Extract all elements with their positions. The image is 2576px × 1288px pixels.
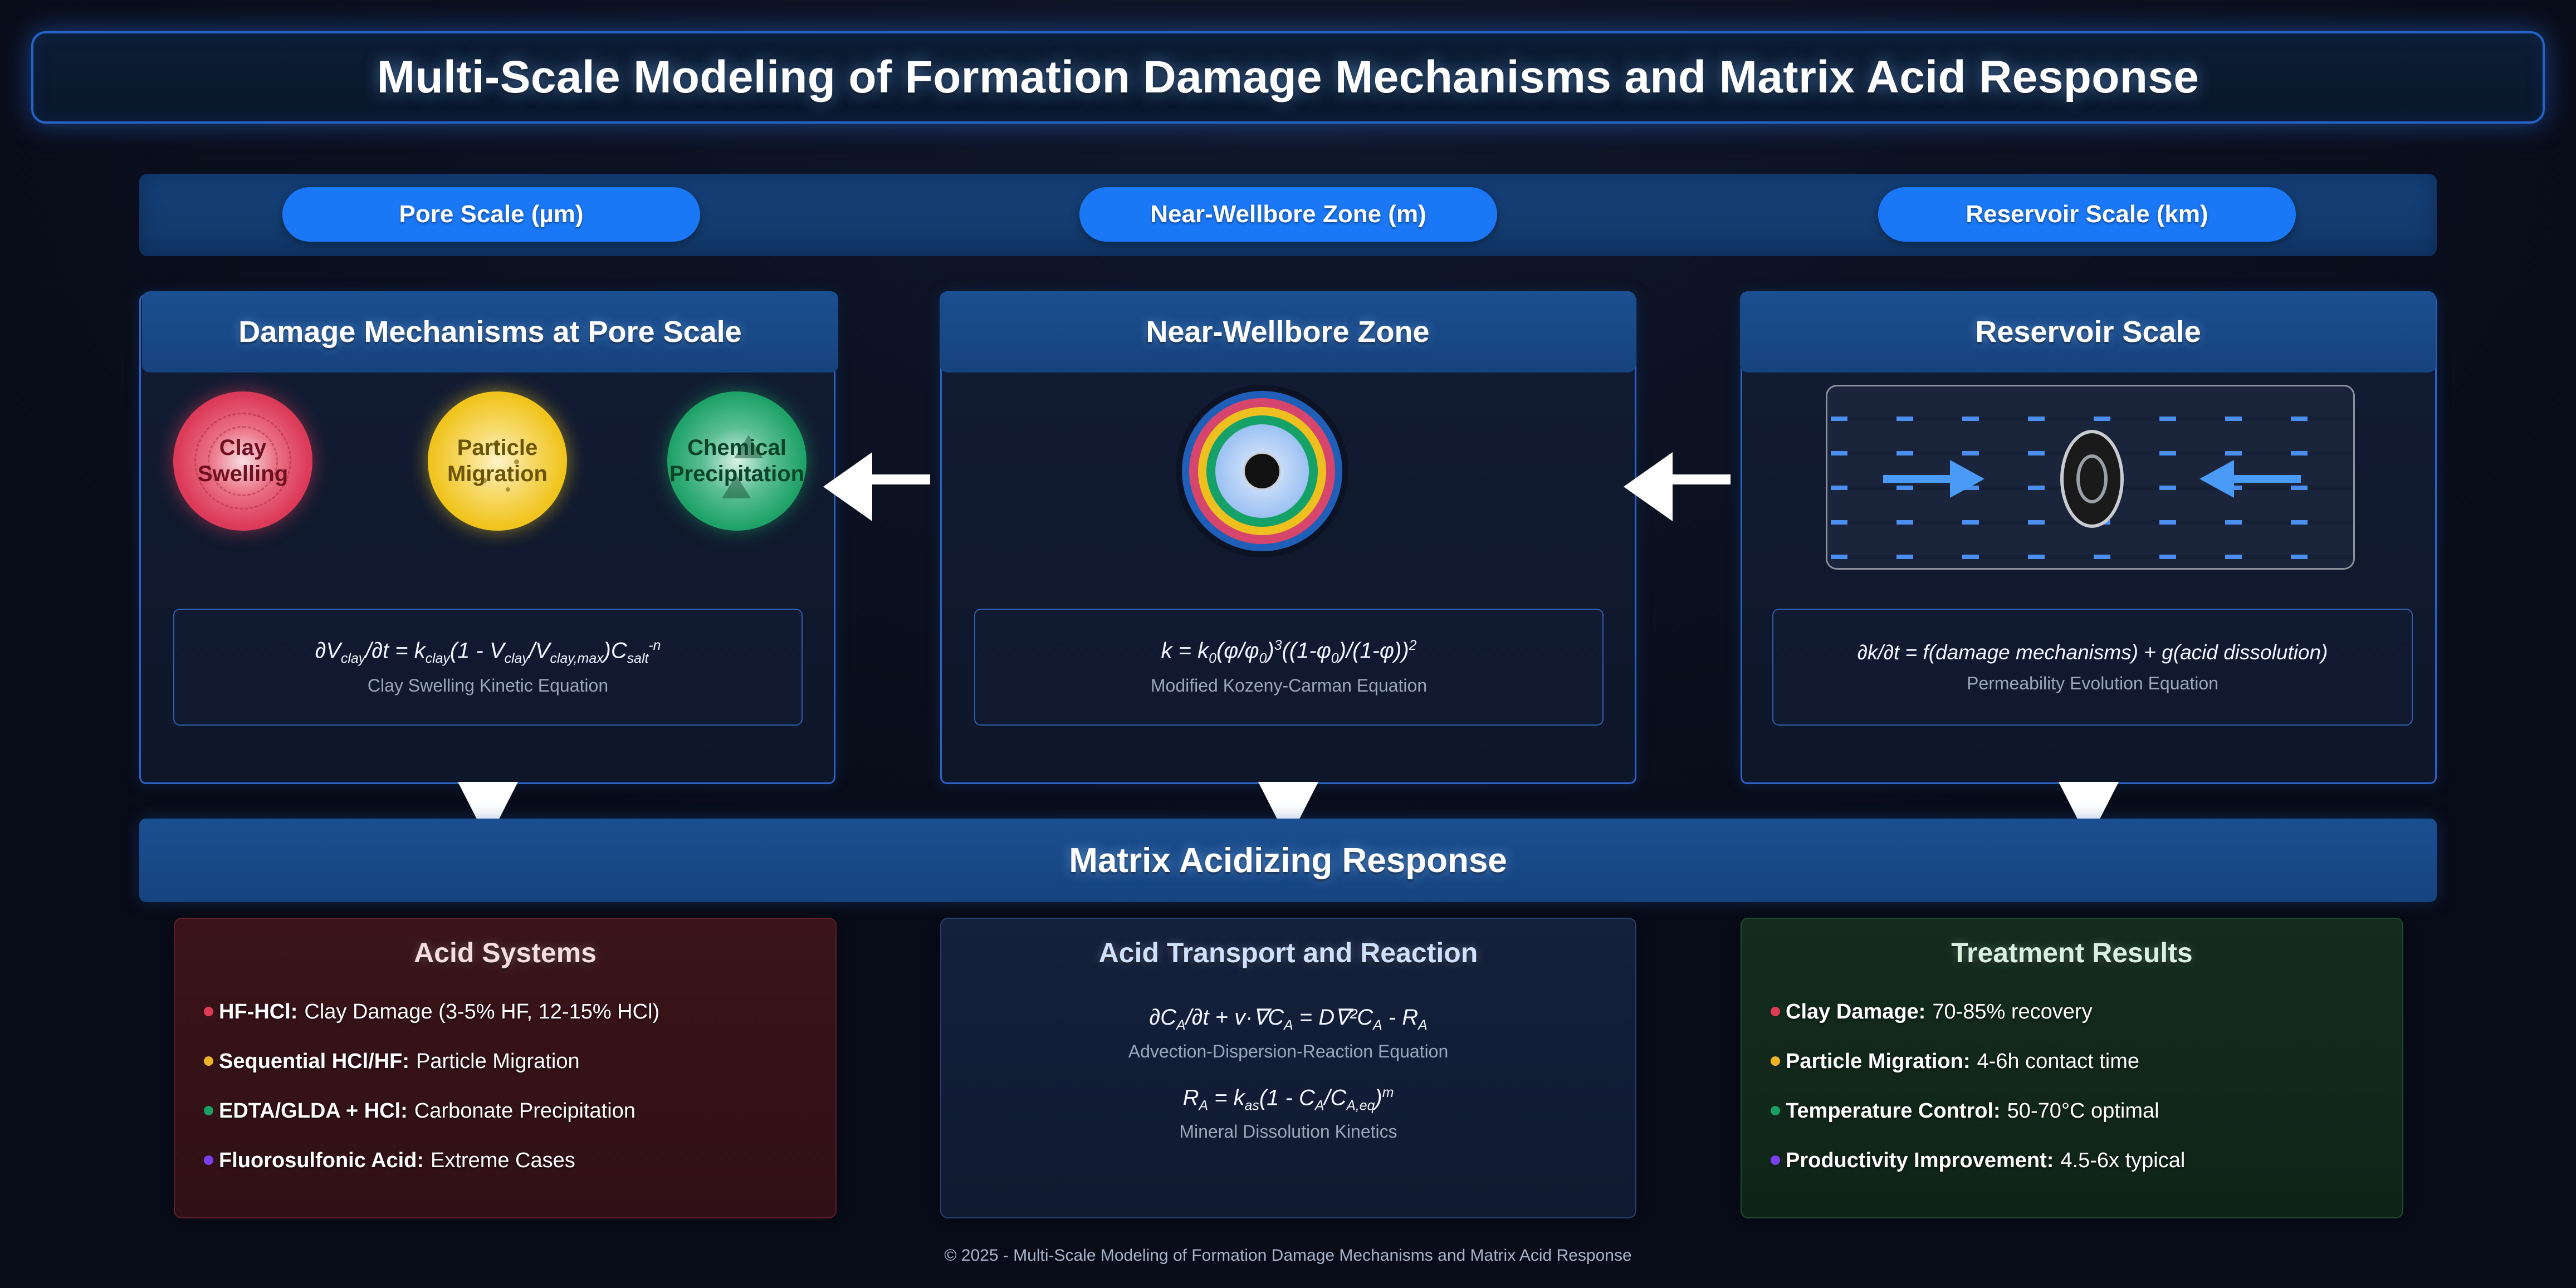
eq-part: /∂t = k: [365, 638, 426, 663]
wellbore-symbol-icon: [2060, 430, 2124, 528]
bullet-icon: [1771, 1155, 1780, 1165]
list-item[interactable]: Sequential HCl/HF: Particle Migration: [204, 1050, 819, 1074]
mechanism-clay-swelling-line2: Swelling: [198, 461, 288, 487]
eq-part: = k: [1208, 1085, 1245, 1110]
eq-part: = D∇²C: [1293, 1005, 1373, 1030]
kozeny-carman-equation: k = k0(φ/φ0)3((1-φ0)/(1-φ))2: [1161, 638, 1417, 667]
eq-part: /∂t + v·∇C: [1186, 1005, 1284, 1030]
list-item-value: 4.5-6x typical: [2060, 1149, 2185, 1173]
page-title: Multi-Scale Modeling of Formation Damage…: [377, 51, 2199, 104]
scale-badge-reservoir[interactable]: Reservoir Scale (km): [1878, 187, 2296, 242]
eq-part: )C: [604, 638, 627, 663]
bullet-icon: [204, 1155, 213, 1165]
list-item-value: 50-70°C optimal: [2007, 1099, 2159, 1123]
panel-acid-transport-heading: Acid Transport and Reaction: [941, 937, 1635, 969]
eq-sup: 2: [1409, 638, 1417, 653]
permeability-evolution-equation: ∂k/∂t = f(damage mechanisms) + g(acid di…: [1858, 641, 2328, 664]
eq-part: (1 - V: [450, 638, 505, 663]
mechanism-particle-migration[interactable]: Particle Migration: [428, 391, 567, 531]
list-item-value: 70-85% recovery: [1932, 1000, 2092, 1024]
list-item-label: HF-HCl:: [219, 1000, 297, 1024]
mechanism-clay-swelling[interactable]: Clay Swelling: [173, 391, 312, 531]
kozeny-carman-equation-caption: Modified Kozeny-Carman Equation: [1151, 675, 1427, 696]
arrow-reservoir-to-wellbore-icon: [1624, 472, 1731, 487]
matrix-acidizing-response-heading: Matrix Acidizing Response: [1069, 841, 1507, 880]
scale-badge-wellbore[interactable]: Near-Wellbore Zone (m): [1079, 187, 1497, 242]
list-item-value: Clay Damage (3-5% HF, 12-15% HCl): [304, 1000, 659, 1024]
panel-pore-scale-heading: Damage Mechanisms at Pore Scale: [142, 291, 838, 373]
eq-sub: A,eq: [1346, 1098, 1375, 1113]
treatment-results-list: Clay Damage: 70-85% recovery Particle Mi…: [1771, 1000, 2386, 1198]
clay-swelling-equation-caption: Clay Swelling Kinetic Equation: [368, 675, 608, 696]
mineral-dissolution-kinetics-equation: RA = kas(1 - CA/CA,eq)m: [1179, 1085, 1397, 1114]
reservoir-field-box: [1826, 385, 2355, 570]
flow-arrow-stem: [2228, 475, 2301, 483]
eq-sup: -n: [648, 638, 661, 653]
eq-part: ((1-φ: [1282, 638, 1331, 663]
arrow-wellbore-to-pore-icon: [823, 472, 930, 487]
eq-part: k = k: [1161, 638, 1209, 663]
mechanism-chemical-precipitation[interactable]: Chemical Precipitation: [667, 391, 806, 531]
eq-part: )/(1-φ)): [1339, 638, 1409, 663]
flow-arrow-right-icon: [1883, 471, 1995, 487]
eq-sub: clay: [426, 651, 450, 666]
eq-part: /C: [1324, 1085, 1346, 1110]
list-item-label: Clay Damage:: [1786, 1000, 1925, 1024]
wellbore-bore-hole-icon: [1243, 452, 1281, 490]
eq-sub: clay: [505, 651, 529, 666]
mechanism-chemical-precipitation-line1: Chemical: [687, 435, 786, 461]
list-item-label: Temperature Control:: [1786, 1099, 2001, 1123]
equation-block: RA = kas(1 - CA/CA,eq)m Mineral Dissolut…: [1179, 1085, 1397, 1142]
panel-pore-scale: Damage Mechanisms at Pore Scale Clay Swe…: [139, 294, 835, 784]
panel-acid-systems: Acid Systems HF-HCl: Clay Damage (3-5% H…: [174, 918, 837, 1218]
eq-sup: 3: [1274, 638, 1282, 653]
eq-part: R: [1183, 1085, 1199, 1110]
panel-near-wellbore: Near-Wellbore Zone k = k0(φ/φ0)3((1-φ0)/…: [940, 294, 1636, 784]
equation-block: ∂CA/∂t + v·∇CA = D∇²CA - RA Advection-Di…: [1128, 1005, 1449, 1062]
list-item[interactable]: EDTA/GLDA + HCl: Carbonate Precipitation: [204, 1099, 819, 1123]
bullet-icon: [1771, 1007, 1780, 1016]
bullet-icon: [204, 1056, 213, 1066]
list-item[interactable]: Clay Damage: 70-85% recovery: [1771, 1000, 2386, 1024]
page-title-bar: Multi-Scale Modeling of Formation Damage…: [31, 31, 2545, 124]
bullet-icon: [1771, 1106, 1780, 1115]
list-item-value: Extreme Cases: [431, 1149, 575, 1173]
eq-part: ∂V: [315, 638, 341, 663]
panel-reservoir-scale-heading: Reservoir Scale: [1740, 291, 2436, 373]
list-item-label: Productivity Improvement:: [1786, 1149, 2054, 1173]
diagram-root: Multi-Scale Modeling of Formation Damage…: [0, 0, 2576, 1288]
list-item[interactable]: Temperature Control: 50-70°C optimal: [1771, 1099, 2386, 1123]
eq-sub: clay: [341, 651, 365, 666]
eq-part: ∂C: [1149, 1005, 1176, 1030]
mineral-dissolution-kinetics-caption: Mineral Dissolution Kinetics: [1179, 1122, 1397, 1142]
arrow-stem: [1669, 474, 1731, 484]
list-item-label: Particle Migration:: [1786, 1050, 1971, 1074]
panel-treatment-results-heading: Treatment Results: [1742, 937, 2402, 969]
mechanism-particle-migration-line2: Migration: [447, 461, 548, 487]
wellbore-equation-box: k = k0(φ/φ0)3((1-φ0)/(1-φ))2 Modified Ko…: [974, 609, 1604, 726]
flow-arrow-head: [1950, 460, 1984, 498]
eq-sub: A: [1199, 1098, 1208, 1113]
mechanism-circle-row: Clay Swelling Particle Migration Chemica…: [163, 386, 815, 553]
acid-transport-equations: ∂CA/∂t + v·∇CA = D∇²CA - RA Advection-Di…: [964, 1005, 1613, 1165]
scale-strip: Pore Scale (µm) Near-Wellbore Zone (m) R…: [139, 174, 2437, 256]
list-item-value: 4-6h contact time: [1977, 1050, 2139, 1074]
eq-part: - R: [1382, 1005, 1418, 1030]
panel-near-wellbore-heading: Near-Wellbore Zone: [940, 291, 1636, 373]
eq-sub: A: [1315, 1098, 1324, 1113]
pore-equation-box: ∂Vclay/∂t = kclay(1 - Vclay/Vclay,max)Cs…: [173, 609, 803, 726]
list-item-value: Carbonate Precipitation: [414, 1099, 636, 1123]
eq-part: /V: [529, 638, 550, 663]
bullet-icon: [204, 1106, 213, 1115]
list-item[interactable]: Particle Migration: 4-6h contact time: [1771, 1050, 2386, 1074]
eq-part: (φ/φ: [1216, 638, 1259, 663]
eq-part: ): [1267, 638, 1274, 663]
permeability-evolution-equation-caption: Permeability Evolution Equation: [1967, 673, 2218, 694]
panel-acid-systems-heading: Acid Systems: [175, 937, 835, 969]
arrow-stem: [869, 474, 930, 484]
scale-badge-pore[interactable]: Pore Scale (µm): [282, 187, 700, 242]
panel-acid-transport: Acid Transport and Reaction ∂CA/∂t + v·∇…: [940, 918, 1636, 1218]
list-item-label: Fluorosulfonic Acid:: [219, 1149, 424, 1173]
eq-sub: clay,max: [550, 651, 604, 666]
advection-dispersion-reaction-caption: Advection-Dispersion-Reaction Equation: [1128, 1041, 1449, 1062]
flow-arrow-left-icon: [2189, 471, 2301, 487]
mechanism-clay-swelling-line1: Clay: [219, 435, 267, 461]
reservoir-equation-box: ∂k/∂t = f(damage mechanisms) + g(acid di…: [1772, 609, 2413, 726]
mechanism-chemical-precipitation-line2: Precipitation: [669, 461, 804, 487]
eq-sub: salt: [627, 651, 649, 666]
eq-sub: A: [1284, 1018, 1293, 1033]
wellbore-ring-diagram: [1145, 388, 1379, 555]
arrow-head: [1624, 452, 1673, 521]
panel-treatment-results: Treatment Results Clay Damage: 70-85% re…: [1741, 918, 2403, 1218]
eq-sub: A: [1418, 1018, 1428, 1033]
eq-sub: 0: [1331, 651, 1339, 666]
bullet-icon: [1771, 1056, 1780, 1066]
bullet-icon: [204, 1007, 213, 1016]
eq-sub: A: [1176, 1018, 1186, 1033]
footer-copyright: © 2025 - Multi-Scale Modeling of Formati…: [0, 1246, 2576, 1265]
eq-part: ): [1375, 1085, 1382, 1110]
panel-reservoir-scale: Reservoir Scale ∂k/∂t = f(damage mechani…: [1741, 294, 2437, 784]
eq-part: (1 - C: [1259, 1085, 1315, 1110]
flow-arrow-head: [2199, 460, 2234, 498]
eq-sup: m: [1382, 1085, 1394, 1100]
acid-systems-list: HF-HCl: Clay Damage (3-5% HF, 12-15% HCl…: [204, 1000, 819, 1198]
list-item[interactable]: HF-HCl: Clay Damage (3-5% HF, 12-15% HCl…: [204, 1000, 819, 1024]
mechanism-particle-migration-line1: Particle: [457, 435, 538, 461]
eq-sub: 0: [1259, 651, 1267, 666]
eq-sub: A: [1373, 1018, 1382, 1033]
arrow-head: [823, 452, 872, 521]
list-item[interactable]: Productivity Improvement: 4.5-6x typical: [1771, 1149, 2386, 1173]
advection-dispersion-reaction-equation: ∂CA/∂t + v·∇CA = D∇²CA - RA: [1128, 1005, 1449, 1034]
eq-sub: 0: [1209, 651, 1216, 666]
flow-arrow-stem: [1883, 475, 1956, 483]
list-item[interactable]: Fluorosulfonic Acid: Extreme Cases: [204, 1149, 819, 1173]
eq-sub: as: [1245, 1098, 1259, 1113]
list-item-label: Sequential HCl/HF:: [219, 1050, 409, 1074]
list-item-label: EDTA/GLDA + HCl:: [219, 1099, 408, 1123]
clay-swelling-equation: ∂Vclay/∂t = kclay(1 - Vclay/Vclay,max)Cs…: [315, 638, 661, 667]
matrix-acidizing-response-bar: Matrix Acidizing Response: [139, 819, 2437, 902]
particle-dot-icon: [506, 487, 510, 492]
list-item-value: Particle Migration: [416, 1050, 580, 1074]
